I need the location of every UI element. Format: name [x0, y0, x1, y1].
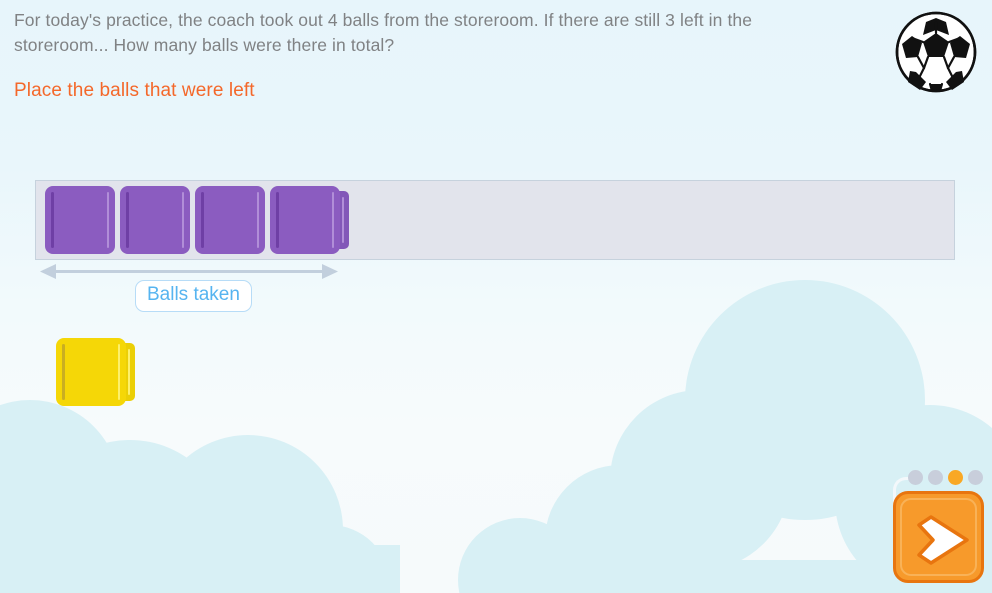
- lesson-header: For today's practice, the coach took out…: [14, 8, 814, 103]
- progress-dot-1[interactable]: [908, 470, 923, 485]
- progress-dot-4[interactable]: [968, 470, 983, 485]
- block-left-edge: [276, 192, 279, 248]
- arrow-right-icon: [911, 511, 971, 574]
- placed-block[interactable]: [120, 186, 190, 254]
- question-text: For today's practice, the coach took out…: [14, 8, 814, 58]
- instruction-text: Place the balls that were left: [14, 79, 814, 103]
- block-right-edge: [118, 344, 121, 400]
- tray-block-area: [56, 338, 136, 406]
- block-left-edge: [126, 192, 129, 248]
- progress-dot-2[interactable]: [928, 470, 943, 485]
- progress-dots: [908, 470, 983, 485]
- block-face: [120, 186, 190, 254]
- lesson-stage: For today's practice, the coach took out…: [0, 0, 992, 593]
- block-right-edge: [107, 192, 110, 248]
- progress-dot-3[interactable]: [948, 470, 963, 485]
- block-face: [270, 186, 340, 254]
- block-right-edge: [182, 192, 185, 248]
- block-left-edge: [201, 192, 204, 248]
- soccer-ball-icon: [894, 10, 978, 94]
- measure-label: Balls taken: [135, 280, 252, 312]
- placed-block[interactable]: [195, 186, 265, 254]
- next-button[interactable]: [893, 491, 984, 583]
- block-face: [45, 186, 115, 254]
- draggable-block[interactable]: [56, 338, 126, 406]
- placed-block[interactable]: [45, 186, 115, 254]
- block-left-edge: [62, 344, 65, 400]
- block-left-edge: [51, 192, 54, 248]
- placed-block[interactable]: [270, 186, 340, 254]
- block-side-highlight: [128, 349, 131, 395]
- block-face: [56, 338, 126, 406]
- double-headed-arrow-icon: [40, 263, 338, 280]
- block-side-highlight: [342, 197, 345, 243]
- block-right-edge: [332, 192, 335, 248]
- block-right-edge: [257, 192, 260, 248]
- block-face: [195, 186, 265, 254]
